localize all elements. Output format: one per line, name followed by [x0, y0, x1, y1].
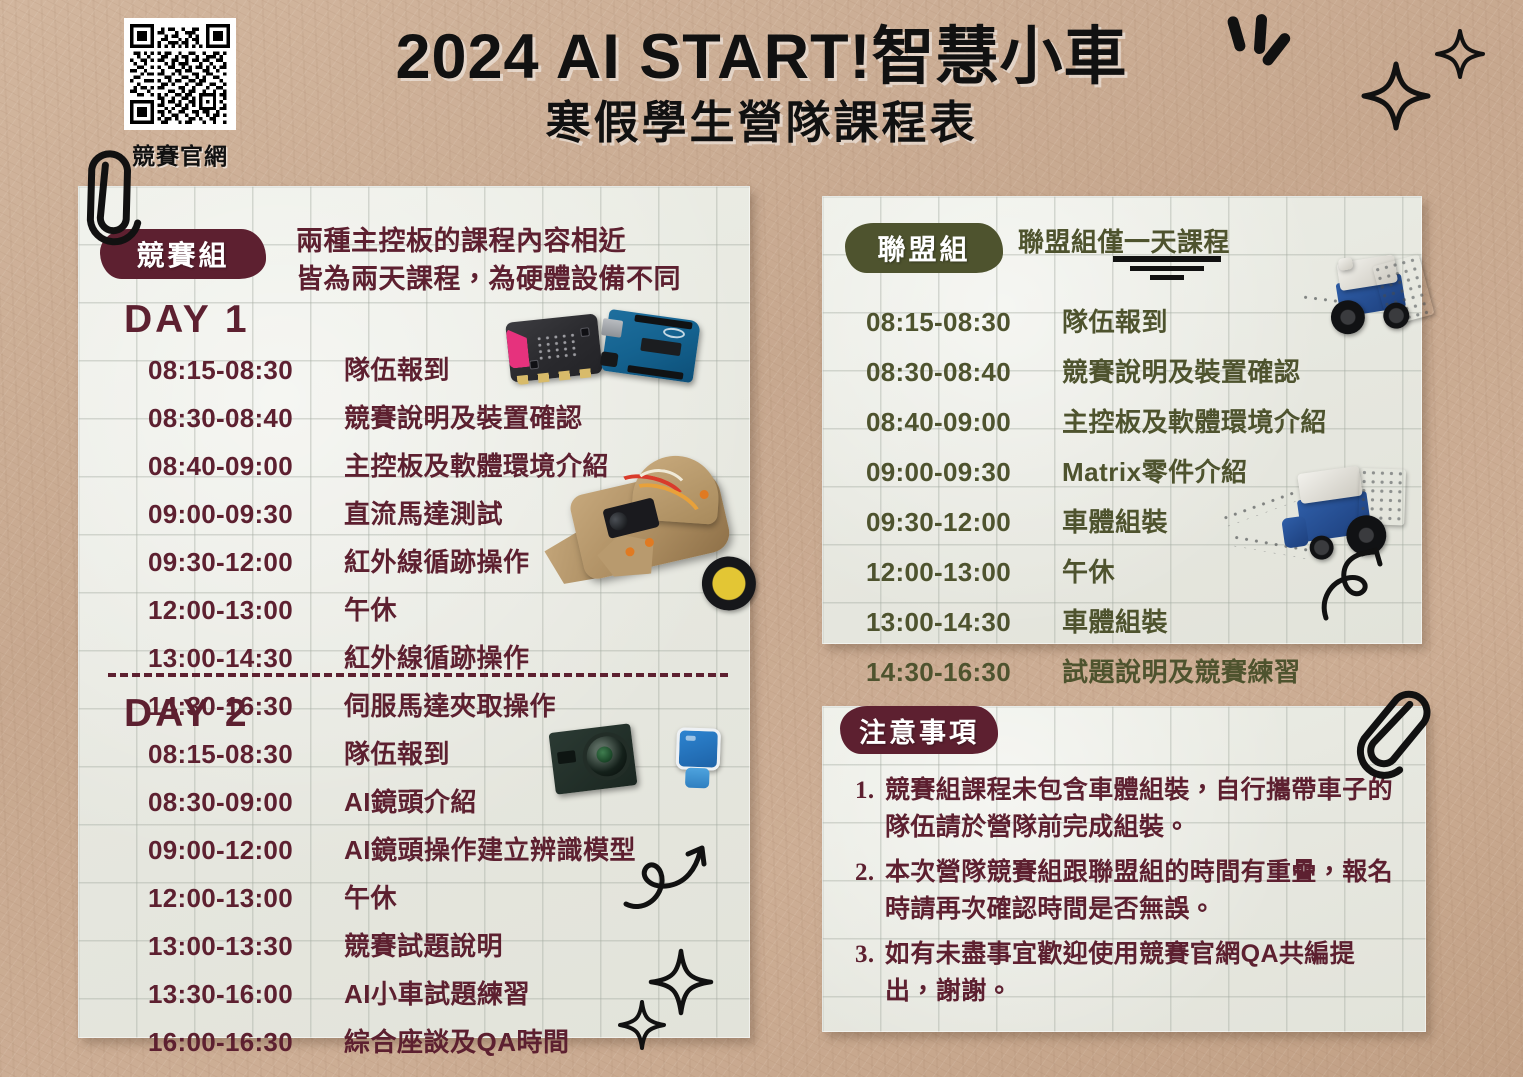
schedule-time: 08:30-08:40 [866, 357, 1062, 388]
schedule-row: 14:30-16:30試題說明及競賽練習 [866, 652, 1327, 689]
competition-note-line2: 皆為兩天課程，為硬體設備不同 [296, 260, 746, 298]
schedule-row: 12:00-13:00午休 [148, 590, 609, 627]
note-item: 3.如有未盡事宜歡迎使用競賽官網QA共編提出，謝謝。 [855, 936, 1405, 1010]
title-main: 2024 AI START!智慧小車 [0, 22, 1523, 94]
blue-display-device-photo [675, 727, 721, 788]
matrix-robot-photo [1299, 236, 1436, 358]
alliance-note: 聯盟組僅一天課程 [1018, 222, 1230, 259]
schedule-row: 16:00-16:30綜合座談及QA時間 [148, 1022, 636, 1059]
schedule-row: 12:00-13:00午休 [148, 878, 636, 915]
schedule-activity: 直流馬達測試 [344, 494, 503, 531]
badge-competition-group: 競賽組 [100, 229, 266, 279]
page-title: 2024 AI START!智慧小車 寒假學生營隊課程表 [0, 22, 1523, 150]
wooden-robot-car-photo [534, 433, 762, 628]
badge-notes: 注意事項 [840, 706, 998, 754]
competition-note-line1: 兩種主控板的課程內容相近 [296, 222, 746, 260]
schedule-time: 16:00-16:30 [148, 1027, 344, 1058]
schedule-time: 09:30-12:00 [148, 547, 344, 578]
schedule-activity: 車體組裝 [1062, 602, 1168, 639]
schedule-activity: 午休 [344, 878, 397, 915]
notes-list: 1.競賽組課程未包含車體組裝，自行攜帶車子的隊伍請於營隊前完成組裝。2.本次營隊… [855, 772, 1405, 1018]
schedule-activity: 隊伍報到 [344, 350, 450, 387]
arduino-uno-board-photo [601, 309, 701, 383]
schedule-activity: 午休 [344, 590, 397, 627]
schedule-activity: 午休 [1062, 552, 1115, 589]
schedule-activity: AI小車試題練習 [344, 974, 530, 1011]
note-number: 2. [855, 854, 885, 891]
schedule-time: 12:00-13:00 [148, 595, 344, 626]
schedule-row: 09:30-12:00紅外線循跡操作 [148, 542, 609, 579]
schedule-time: 13:30-16:00 [148, 979, 344, 1010]
title-subtitle: 寒假學生營隊課程表 [0, 96, 1523, 150]
badge-alliance-group: 聯盟組 [845, 223, 1003, 273]
schedule-time: 12:00-13:00 [866, 557, 1062, 588]
schedule-activity: 車體組裝 [1062, 502, 1168, 539]
day1-title: DAY 1 [124, 298, 250, 342]
schedule-row: 13:30-16:00AI小車試題練習 [148, 974, 636, 1011]
note-text: 本次營隊競賽組跟聯盟組的時間有重疊，報名時請再次確認時間是否無誤。 [885, 854, 1405, 928]
schedule-activity: AI鏡頭操作建立辨識模型 [344, 830, 636, 867]
schedule-activity: 紅外線循跡操作 [344, 542, 530, 579]
schedule-time: 09:00-09:30 [866, 457, 1062, 488]
schedule-activity: 隊伍報到 [1062, 302, 1168, 339]
schedule-time: 08:15-08:30 [148, 739, 344, 770]
ai-camera-module-photo [549, 723, 638, 795]
competition-note: 兩種主控板的課程內容相近 皆為兩天課程，為硬體設備不同 [296, 222, 746, 299]
schedule-activity: 伺服馬達夾取操作 [344, 686, 556, 723]
schedule-time: 09:00-09:30 [148, 499, 344, 530]
note-item: 1.競賽組課程未包含車體組裝，自行攜帶車子的隊伍請於營隊前完成組裝。 [855, 772, 1405, 846]
note-item: 2.本次營隊競賽組跟聯盟組的時間有重疊，報名時請再次確認時間是否無誤。 [855, 854, 1405, 928]
schedule-time: 13:00-14:30 [148, 643, 344, 674]
note-text: 如有未盡事宜歡迎使用競賽官網QA共編提出，謝謝。 [885, 936, 1405, 1010]
schedule-activity: 試題說明及競賽練習 [1062, 652, 1301, 689]
schedule-activity: 競賽說明及裝置確認 [1062, 352, 1301, 389]
schedule-time: 13:00-13:30 [148, 931, 344, 962]
schedule-activity: 競賽試題說明 [344, 926, 503, 963]
schedule-row: 13:00-14:30車體組裝 [866, 602, 1327, 639]
note-text: 競賽組課程未包含車體組裝，自行攜帶車子的隊伍請於營隊前完成組裝。 [885, 772, 1405, 846]
underline-decoration [1112, 256, 1222, 284]
schedule-row: 08:40-09:00主控板及軟體環境介紹 [866, 402, 1327, 439]
schedule-row: 13:00-13:30競賽試題說明 [148, 926, 636, 963]
poster-root: 競賽官網 2024 AI START!智慧小車 寒假學生營隊課程表 [0, 0, 1523, 1077]
schedule-time: 09:00-12:00 [148, 835, 344, 866]
schedule-time: 08:40-09:00 [866, 407, 1062, 438]
schedule-time: 13:00-14:30 [866, 607, 1062, 638]
microbit-board-photo [505, 313, 603, 382]
schedule-activity: 綜合座談及QA時間 [344, 1022, 570, 1059]
day2-title: DAY 2 [124, 692, 250, 736]
schedule-activity: 隊伍報到 [344, 734, 450, 771]
note-number: 3. [855, 936, 885, 973]
schedule-activity: 競賽說明及裝置確認 [344, 398, 583, 435]
schedule-row: 08:15-08:30隊伍報到 [866, 302, 1327, 339]
schedule-time: 14:30-16:30 [866, 657, 1062, 688]
schedule-time: 08:15-08:30 [866, 307, 1062, 338]
schedule-row: 09:00-12:00AI鏡頭操作建立辨識模型 [148, 830, 636, 867]
schedule-row: 08:30-08:40競賽說明及裝置確認 [866, 352, 1327, 389]
day-divider [108, 673, 728, 677]
schedule-time: 08:30-09:00 [148, 787, 344, 818]
schedule-time: 12:00-13:00 [148, 883, 344, 914]
note-number: 1. [855, 772, 885, 809]
schedule-time: 08:30-08:40 [148, 403, 344, 434]
schedule-row: 08:30-08:40競賽說明及裝置確認 [148, 398, 609, 435]
schedule-time: 09:30-12:00 [866, 507, 1062, 538]
schedule-activity: 紅外線循跡操作 [344, 638, 530, 675]
schedule-row: 13:00-14:30紅外線循跡操作 [148, 638, 609, 675]
schedule-time: 08:15-08:30 [148, 355, 344, 386]
schedule-time: 08:40-09:00 [148, 451, 344, 482]
schedule-activity: 主控板及軟體環境介紹 [1062, 402, 1327, 439]
schedule-activity: AI鏡頭介紹 [344, 782, 477, 819]
